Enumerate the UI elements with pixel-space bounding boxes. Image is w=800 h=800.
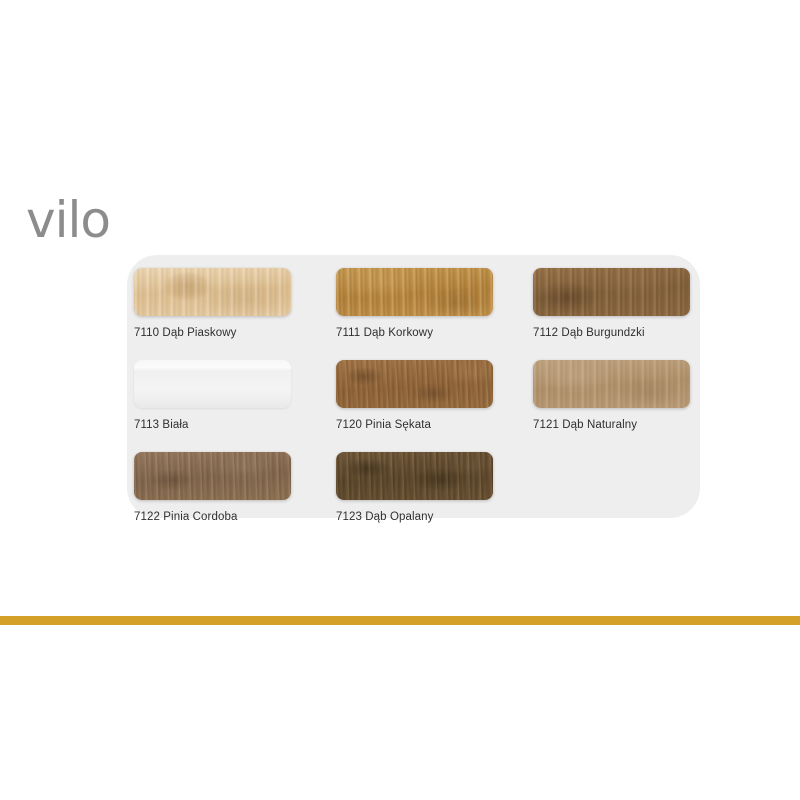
vilo-logo: vilo xyxy=(26,193,146,251)
swatch-item-7123[interactable]: 7123 Dąb Opalany xyxy=(336,452,533,544)
swatch-chip-7123[interactable] xyxy=(336,452,493,500)
swatch-item-7120[interactable]: 7120 Pinia Sękata xyxy=(336,360,533,452)
wood-decor-panel: 7110 Dąb Piaskowy 7111 Dąb Korkowy 7112 … xyxy=(127,255,700,518)
swatch-chip-7121[interactable] xyxy=(533,360,690,408)
swatch-item-7113[interactable]: 7113 Biała xyxy=(134,360,336,452)
swatch-item-7121[interactable]: 7121 Dąb Naturalny xyxy=(533,360,700,452)
swatch-label-7110: 7110 Dąb Piaskowy xyxy=(134,327,336,339)
swatch-chip-7110[interactable] xyxy=(134,268,291,316)
swatch-grid: 7110 Dąb Piaskowy 7111 Dąb Korkowy 7112 … xyxy=(134,268,700,544)
swatch-label-7123: 7123 Dąb Opalany xyxy=(336,511,533,523)
swatch-label-7112: 7112 Dąb Burgundzki xyxy=(533,327,700,339)
swatch-label-7122: 7122 Pinia Cordoba xyxy=(134,511,336,523)
swatch-chip-7113[interactable] xyxy=(134,360,291,408)
swatch-label-7111: 7111 Dąb Korkowy xyxy=(336,327,533,339)
swatch-item-7112[interactable]: 7112 Dąb Burgundzki xyxy=(533,268,700,360)
swatch-chip-7111[interactable] xyxy=(336,268,493,316)
swatch-label-7120: 7120 Pinia Sękata xyxy=(336,419,533,431)
swatch-item-7111[interactable]: 7111 Dąb Korkowy xyxy=(336,268,533,360)
swatch-label-7113: 7113 Biała xyxy=(134,419,336,431)
swatch-chip-7112[interactable] xyxy=(533,268,690,316)
swatch-chip-7122[interactable] xyxy=(134,452,291,500)
footer-accent-bar xyxy=(0,616,800,625)
swatch-item-7110[interactable]: 7110 Dąb Piaskowy xyxy=(134,268,336,360)
vilo-logo-text: vilo xyxy=(26,193,110,249)
swatch-label-7121: 7121 Dąb Naturalny xyxy=(533,419,700,431)
swatch-chip-7120[interactable] xyxy=(336,360,493,408)
swatch-grid-empty-cell xyxy=(533,452,700,544)
swatch-item-7122[interactable]: 7122 Pinia Cordoba xyxy=(134,452,336,544)
vilo-logo-mark: vilo xyxy=(26,193,146,251)
